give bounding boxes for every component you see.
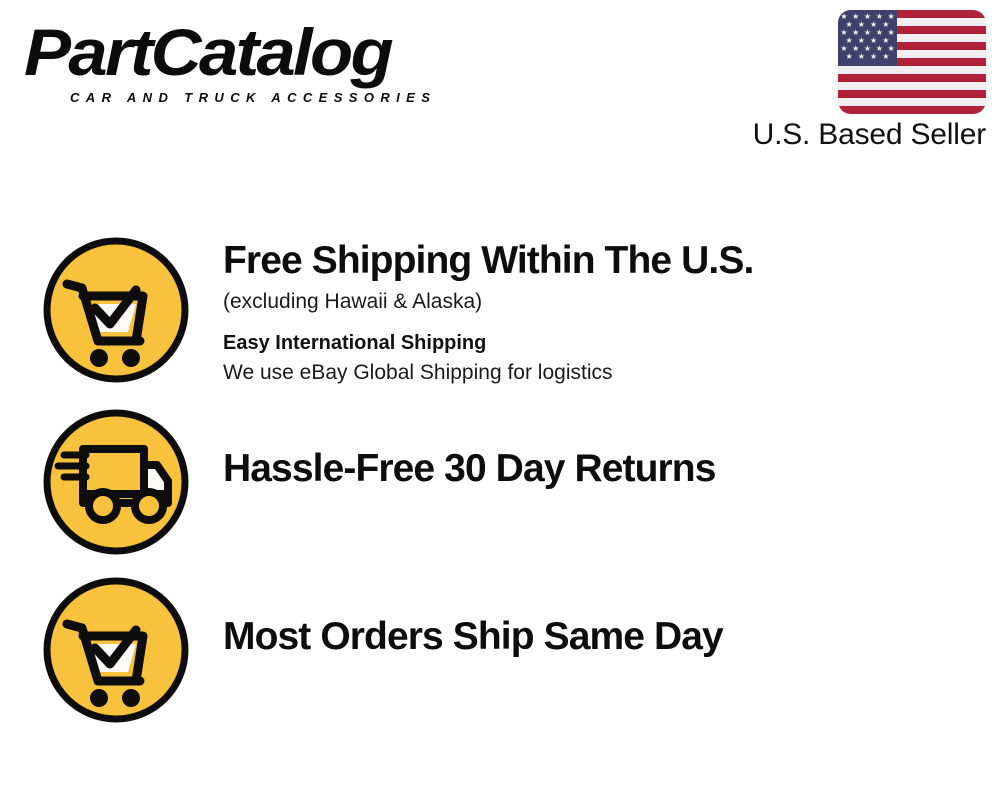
feature-body: Hassle-Free 30 Day Returns [223,408,1000,492]
us-flag-icon: ★★★★★ ★★★★ ★★★★★ ★★★★ ★★★★★ ★★★★ [838,10,986,114]
flag-star: ★ [846,53,853,61]
feature-row: Hassle-Free 30 Day Returns [0,408,1000,558]
flag-stripe [838,98,986,106]
flag-star: ★ [882,53,889,61]
feature-row: Most Orders Ship Same Day [0,576,1000,726]
brand-logo[interactable]: PartCatalog CAR AND TRUCK ACCESSORIES [24,16,504,116]
page-header: PartCatalog CAR AND TRUCK ACCESSORIES ★★… [0,0,1000,170]
feature-body: Most Orders Ship Same Day [223,576,1000,660]
feature-title: Hassle-Free 30 Day Returns [223,446,1000,492]
shopping-cart-check-icon [42,576,190,726]
flag-stripe [838,106,986,114]
flag-stripe [838,66,986,74]
flag-stripe [838,90,986,98]
seller-badge-label: U.S. Based Seller [724,118,986,152]
flag-stripe [838,74,986,82]
seller-badge: ★★★★★ ★★★★ ★★★★★ ★★★★ ★★★★★ ★★★★ U.S. Ba… [724,10,986,152]
feature-sub-note: We use eBay Global Shipping for logistic… [223,358,1000,387]
feature-title: Most Orders Ship Same Day [223,614,1000,660]
feature-sub-title: Easy International Shipping [223,330,1000,357]
flag-stripe [838,82,986,90]
feature-row: Free Shipping Within The U.S. (excluding… [0,236,1000,387]
delivery-truck-icon [42,408,190,558]
brand-tagline: CAR AND TRUCK ACCESSORIES [70,90,504,105]
feature-body: Free Shipping Within The U.S. (excluding… [223,236,1000,387]
feature-title: Free Shipping Within The U.S. [223,238,1000,284]
flag-star-row: ★★★★ [838,53,897,61]
flag-star: ★ [858,53,865,61]
feature-note: (excluding Hawaii & Alaska) [223,288,1000,316]
brand-wordmark: PartCatalog [24,16,538,88]
flag-canton: ★★★★★ ★★★★ ★★★★★ ★★★★ ★★★★★ ★★★★ [838,10,897,66]
shopping-cart-check-icon [42,236,190,386]
flag-star: ★ [870,53,877,61]
